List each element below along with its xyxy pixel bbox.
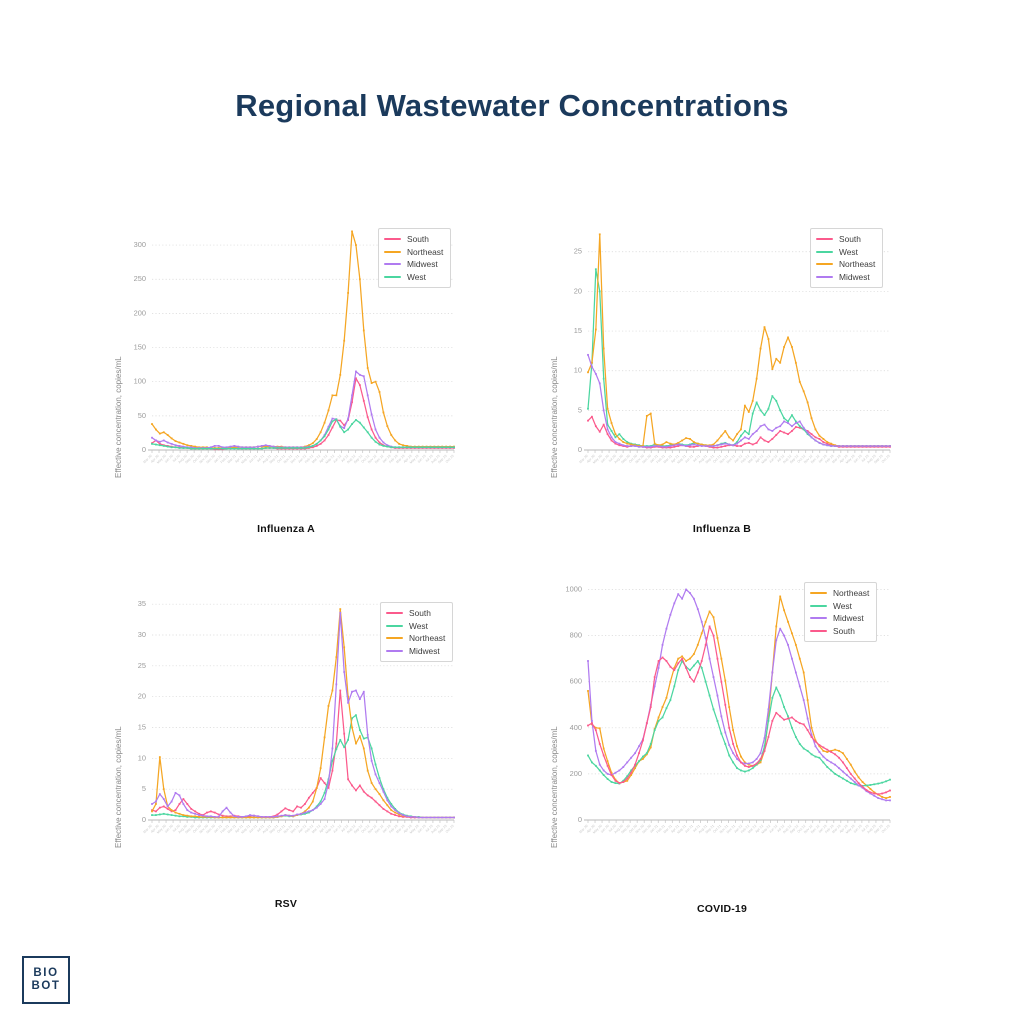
series-point: [775, 400, 777, 402]
series-point: [343, 746, 345, 748]
series-point: [881, 796, 883, 798]
series-point: [269, 445, 271, 447]
series-point: [701, 667, 703, 669]
series-point: [869, 791, 871, 793]
series-point: [324, 782, 326, 784]
series-point: [367, 367, 369, 369]
series-point: [328, 409, 330, 411]
legend-item-south[interactable]: South: [810, 625, 869, 638]
series-point: [618, 443, 620, 445]
y-tick-label: 5: [142, 784, 146, 793]
series-point: [826, 751, 828, 753]
series-point: [819, 442, 821, 444]
series-point: [768, 428, 770, 430]
series-point: [771, 395, 773, 397]
legend-covid-19[interactable]: NortheastWestMidwestSouth: [804, 582, 877, 642]
y-tick-label: 1000: [566, 584, 582, 593]
series-point: [756, 442, 758, 444]
series-point: [335, 394, 337, 396]
series-point: [347, 429, 349, 431]
series-point: [335, 656, 337, 658]
series-point: [638, 760, 640, 762]
series-point: [720, 446, 722, 448]
series-point: [367, 734, 369, 736]
series-point: [359, 729, 361, 731]
y-tick-label: 150: [134, 342, 146, 351]
series-point: [390, 446, 392, 448]
series-point: [626, 778, 628, 780]
series-point: [736, 755, 738, 757]
series-point: [744, 443, 746, 445]
series-point: [453, 817, 455, 819]
y-tick-label: 100: [134, 377, 146, 386]
legend-swatch-icon: [384, 238, 401, 240]
legend-swatch-icon: [816, 238, 833, 240]
series-point: [819, 751, 821, 753]
series-point: [693, 681, 695, 683]
series-point: [764, 326, 766, 328]
series-point: [273, 447, 275, 449]
series-point: [713, 616, 715, 618]
series-point: [332, 770, 334, 772]
series-point: [869, 445, 871, 447]
series-point: [834, 764, 836, 766]
legend-swatch-icon: [810, 605, 827, 607]
series-point: [230, 812, 232, 814]
series-point: [740, 756, 742, 758]
series-point: [685, 437, 687, 439]
series-point: [324, 736, 326, 738]
series-point: [433, 817, 435, 819]
series-point: [811, 417, 813, 419]
series-point: [371, 382, 373, 384]
series-point: [850, 778, 852, 780]
series-point: [281, 447, 283, 449]
series-point: [430, 817, 432, 819]
series-point: [646, 415, 648, 417]
series-point: [752, 765, 754, 767]
series-point: [807, 402, 809, 404]
series-point: [768, 408, 770, 410]
series-point: [717, 444, 719, 446]
series-point: [846, 780, 848, 782]
series-point: [343, 646, 345, 648]
series-point: [689, 592, 691, 594]
series-point: [312, 442, 314, 444]
series-point: [740, 770, 742, 772]
series-point: [795, 426, 797, 428]
series-point: [815, 756, 817, 758]
series-point: [795, 644, 797, 646]
series-point: [889, 790, 891, 792]
series-point: [296, 806, 298, 808]
legend-label: South: [409, 608, 431, 618]
series-point: [615, 443, 617, 445]
series-point: [328, 434, 330, 436]
series-point: [359, 785, 361, 787]
series-point: [658, 445, 660, 447]
series-point: [445, 446, 447, 448]
series-point: [343, 340, 345, 342]
series-point: [595, 268, 597, 270]
series-point: [367, 431, 369, 433]
series-point: [807, 699, 809, 701]
series-point: [732, 444, 734, 446]
series-point: [811, 753, 813, 755]
series-point: [386, 425, 388, 427]
series-point: [783, 719, 785, 721]
series-point: [760, 425, 762, 427]
series-point: [587, 660, 589, 662]
series-point: [155, 801, 157, 803]
y-tick-label: 0: [142, 815, 146, 824]
series-point: [732, 440, 734, 442]
legend-item-west[interactable]: West: [384, 271, 443, 284]
legend-influenza-b[interactable]: SouthWestNortheastMidwest: [810, 228, 883, 288]
series-point: [677, 669, 679, 671]
series-point: [791, 727, 793, 729]
series-point: [155, 814, 157, 816]
series-point: [689, 676, 691, 678]
series-point: [171, 437, 173, 439]
series-point: [744, 405, 746, 407]
series-point: [822, 441, 824, 443]
series-point: [351, 423, 353, 425]
series-point: [760, 758, 762, 760]
series-point: [414, 816, 416, 818]
series-point: [779, 425, 781, 427]
series-point: [748, 438, 750, 440]
series-point: [230, 817, 232, 819]
series-point: [677, 662, 679, 664]
series-point: [163, 431, 165, 433]
series-point: [383, 412, 385, 414]
series-point: [768, 338, 770, 340]
series-point: [622, 441, 624, 443]
series-point: [441, 817, 443, 819]
series-point: [257, 815, 259, 817]
series-point: [685, 667, 687, 669]
series-point: [426, 446, 428, 448]
series-point: [677, 445, 679, 447]
series-point: [335, 683, 337, 685]
series-point: [787, 433, 789, 435]
series-point: [842, 752, 844, 754]
series-point: [642, 446, 644, 448]
series-point: [709, 626, 711, 628]
series-point: [359, 698, 361, 700]
legend-item-northeast[interactable]: Northeast: [386, 632, 445, 645]
series-point: [226, 807, 228, 809]
series-point: [351, 231, 353, 233]
series-point: [175, 440, 177, 442]
series-point: [689, 446, 691, 448]
series-point: [658, 667, 660, 669]
series-point: [756, 763, 758, 765]
series-point: [693, 653, 695, 655]
series-point: [842, 445, 844, 447]
series-point: [218, 816, 220, 818]
series-point: [332, 760, 334, 762]
series-point: [371, 429, 373, 431]
series-point: [599, 764, 601, 766]
series-point: [390, 434, 392, 436]
series-point: [257, 446, 259, 448]
series-point: [760, 436, 762, 438]
legend-item-midwest[interactable]: Midwest: [816, 271, 875, 284]
legend-item-west[interactable]: West: [810, 600, 869, 613]
series-point: [386, 810, 388, 812]
series-point: [607, 760, 609, 762]
series-point: [249, 817, 251, 819]
series-point: [697, 644, 699, 646]
series-point: [646, 752, 648, 754]
series-point: [359, 735, 361, 737]
series-point: [822, 761, 824, 763]
series-point: [379, 391, 381, 393]
series-point: [339, 612, 341, 614]
series-point: [324, 792, 326, 794]
series-point: [728, 744, 730, 746]
series-point: [724, 680, 726, 682]
series-point: [764, 424, 766, 426]
series-point: [740, 445, 742, 447]
series-point: [787, 715, 789, 717]
series-point: [363, 791, 365, 793]
series-point: [603, 770, 605, 772]
series-point: [795, 421, 797, 423]
legend-item-south[interactable]: South: [386, 607, 445, 620]
series-point: [599, 770, 601, 772]
series-point: [367, 770, 369, 772]
series-point: [826, 444, 828, 446]
series-point: [662, 706, 664, 708]
series-point: [355, 371, 357, 373]
series-point: [167, 434, 169, 436]
series-point: [846, 445, 848, 447]
series-point: [799, 658, 801, 660]
series-point: [779, 596, 781, 598]
series-point: [807, 729, 809, 731]
series-point: [402, 444, 404, 446]
series-point: [705, 445, 707, 447]
series-point: [383, 799, 385, 801]
series-point: [607, 778, 609, 780]
y-tick-label: 20: [138, 692, 146, 701]
series-point: [622, 444, 624, 446]
series-point: [422, 446, 424, 448]
series-point: [402, 814, 404, 816]
series-point: [622, 438, 624, 440]
series-point: [658, 720, 660, 722]
series-point: [445, 817, 447, 819]
series-point: [720, 681, 722, 683]
series-point: [732, 752, 734, 754]
series-point: [634, 752, 636, 754]
series-point: [186, 815, 188, 817]
series-point: [862, 786, 864, 788]
series-point: [607, 773, 609, 775]
series-point: [622, 781, 624, 783]
chart-caption-influenza-a: Influenza A: [112, 523, 460, 535]
series-point: [595, 750, 597, 752]
legend-item-south[interactable]: South: [816, 233, 875, 246]
series-point: [277, 815, 279, 817]
series-point: [394, 809, 396, 811]
series-point: [587, 354, 589, 356]
series-point: [791, 632, 793, 634]
series-point: [163, 445, 165, 447]
series-point: [261, 448, 263, 450]
series-point: [615, 780, 617, 782]
series-point: [630, 757, 632, 759]
series-point: [689, 669, 691, 671]
y-tick-label: 50: [138, 411, 146, 420]
legend-swatch-icon: [816, 263, 833, 265]
series-point: [744, 771, 746, 773]
series-point: [756, 378, 758, 380]
series-point: [198, 814, 200, 816]
series-point: [673, 446, 675, 448]
series-point: [591, 416, 593, 418]
series-point: [783, 432, 785, 434]
series-point: [622, 766, 624, 768]
series-point: [418, 817, 420, 819]
series-point: [811, 736, 813, 738]
series-point: [328, 782, 330, 784]
series-point: [375, 441, 377, 443]
series-point: [163, 788, 165, 790]
series-point: [830, 770, 832, 772]
series-point: [390, 809, 392, 811]
series-point: [351, 691, 353, 693]
series-point: [398, 446, 400, 448]
series-point: [771, 368, 773, 370]
series-point: [186, 447, 188, 449]
series-point: [646, 446, 648, 448]
y-tick-label: 35: [138, 599, 146, 608]
series-point: [642, 756, 644, 758]
series-point: [677, 658, 679, 660]
series-point: [394, 812, 396, 814]
series-point: [764, 737, 766, 739]
series-point: [728, 727, 730, 729]
series-point: [626, 443, 628, 445]
chart-caption-influenza-b: Influenza B: [548, 523, 896, 535]
series-point: [599, 233, 601, 235]
legend-item-south[interactable]: South: [384, 233, 443, 246]
series-point: [775, 434, 777, 436]
series-point: [261, 445, 263, 447]
series-point: [752, 413, 754, 415]
series-point: [300, 813, 302, 815]
series-point: [764, 750, 766, 752]
series-point: [854, 778, 856, 780]
page-title: Regional Wastewater Concentrations: [0, 88, 1024, 124]
series-point: [363, 400, 365, 402]
series-point: [889, 445, 891, 447]
series-point: [324, 798, 326, 800]
series-point: [296, 814, 298, 816]
legend-item-northeast[interactable]: Northeast: [816, 258, 875, 271]
legend-item-west[interactable]: West: [386, 620, 445, 633]
series-point: [449, 446, 451, 448]
y-tick-label: 25: [574, 247, 582, 256]
series-point: [701, 660, 703, 662]
series-point: [245, 815, 247, 817]
series-point: [830, 761, 832, 763]
series-point: [151, 443, 153, 445]
series-point: [669, 666, 671, 668]
series-point: [587, 420, 589, 422]
series-point: [167, 446, 169, 448]
y-tick-label: 600: [570, 677, 582, 686]
legend-influenza-a[interactable]: SouthNortheastMidwestWest: [378, 228, 451, 288]
series-point: [179, 794, 181, 796]
series-point: [190, 815, 192, 817]
series-point: [159, 444, 161, 446]
series-point: [375, 788, 377, 790]
series-point: [811, 433, 813, 435]
series-point: [355, 419, 357, 421]
series-point: [603, 348, 605, 350]
series-point: [771, 438, 773, 440]
series-point: [347, 702, 349, 704]
series-point: [838, 445, 840, 447]
series-point: [163, 798, 165, 800]
series-point: [791, 346, 793, 348]
series-point: [685, 660, 687, 662]
series-point: [697, 660, 699, 662]
legend-item-midwest[interactable]: Midwest: [386, 645, 445, 658]
series-point: [320, 443, 322, 445]
legend-label: Northeast: [833, 588, 869, 598]
series-point: [783, 421, 785, 423]
series-point: [783, 635, 785, 637]
series-point: [304, 447, 306, 449]
series-point: [819, 757, 821, 759]
legend-item-northeast[interactable]: Northeast: [810, 587, 869, 600]
series-point: [607, 433, 609, 435]
series-point: [453, 446, 455, 448]
legend-rsv[interactable]: SouthWestNortheastMidwest: [380, 602, 453, 662]
series-point: [740, 428, 742, 430]
legend-item-midwest[interactable]: Midwest: [810, 612, 869, 625]
series-point: [351, 785, 353, 787]
series-point: [324, 435, 326, 437]
series-point: [669, 614, 671, 616]
series-point: [634, 764, 636, 766]
series-point: [787, 421, 789, 423]
legend-swatch-icon: [816, 276, 833, 278]
legend-item-west[interactable]: West: [816, 246, 875, 259]
series-point: [599, 727, 601, 729]
series-point: [355, 244, 357, 246]
legend-item-midwest[interactable]: Midwest: [384, 258, 443, 271]
series-point: [877, 793, 879, 795]
series-point: [850, 773, 852, 775]
series-point: [222, 810, 224, 812]
series-point: [673, 685, 675, 687]
series-point: [713, 445, 715, 447]
series-point: [375, 437, 377, 439]
series-point: [807, 432, 809, 434]
series-point: [288, 815, 290, 817]
series-point: [237, 446, 239, 448]
series-point: [151, 803, 153, 805]
series-point: [677, 442, 679, 444]
legend-item-northeast[interactable]: Northeast: [384, 246, 443, 259]
